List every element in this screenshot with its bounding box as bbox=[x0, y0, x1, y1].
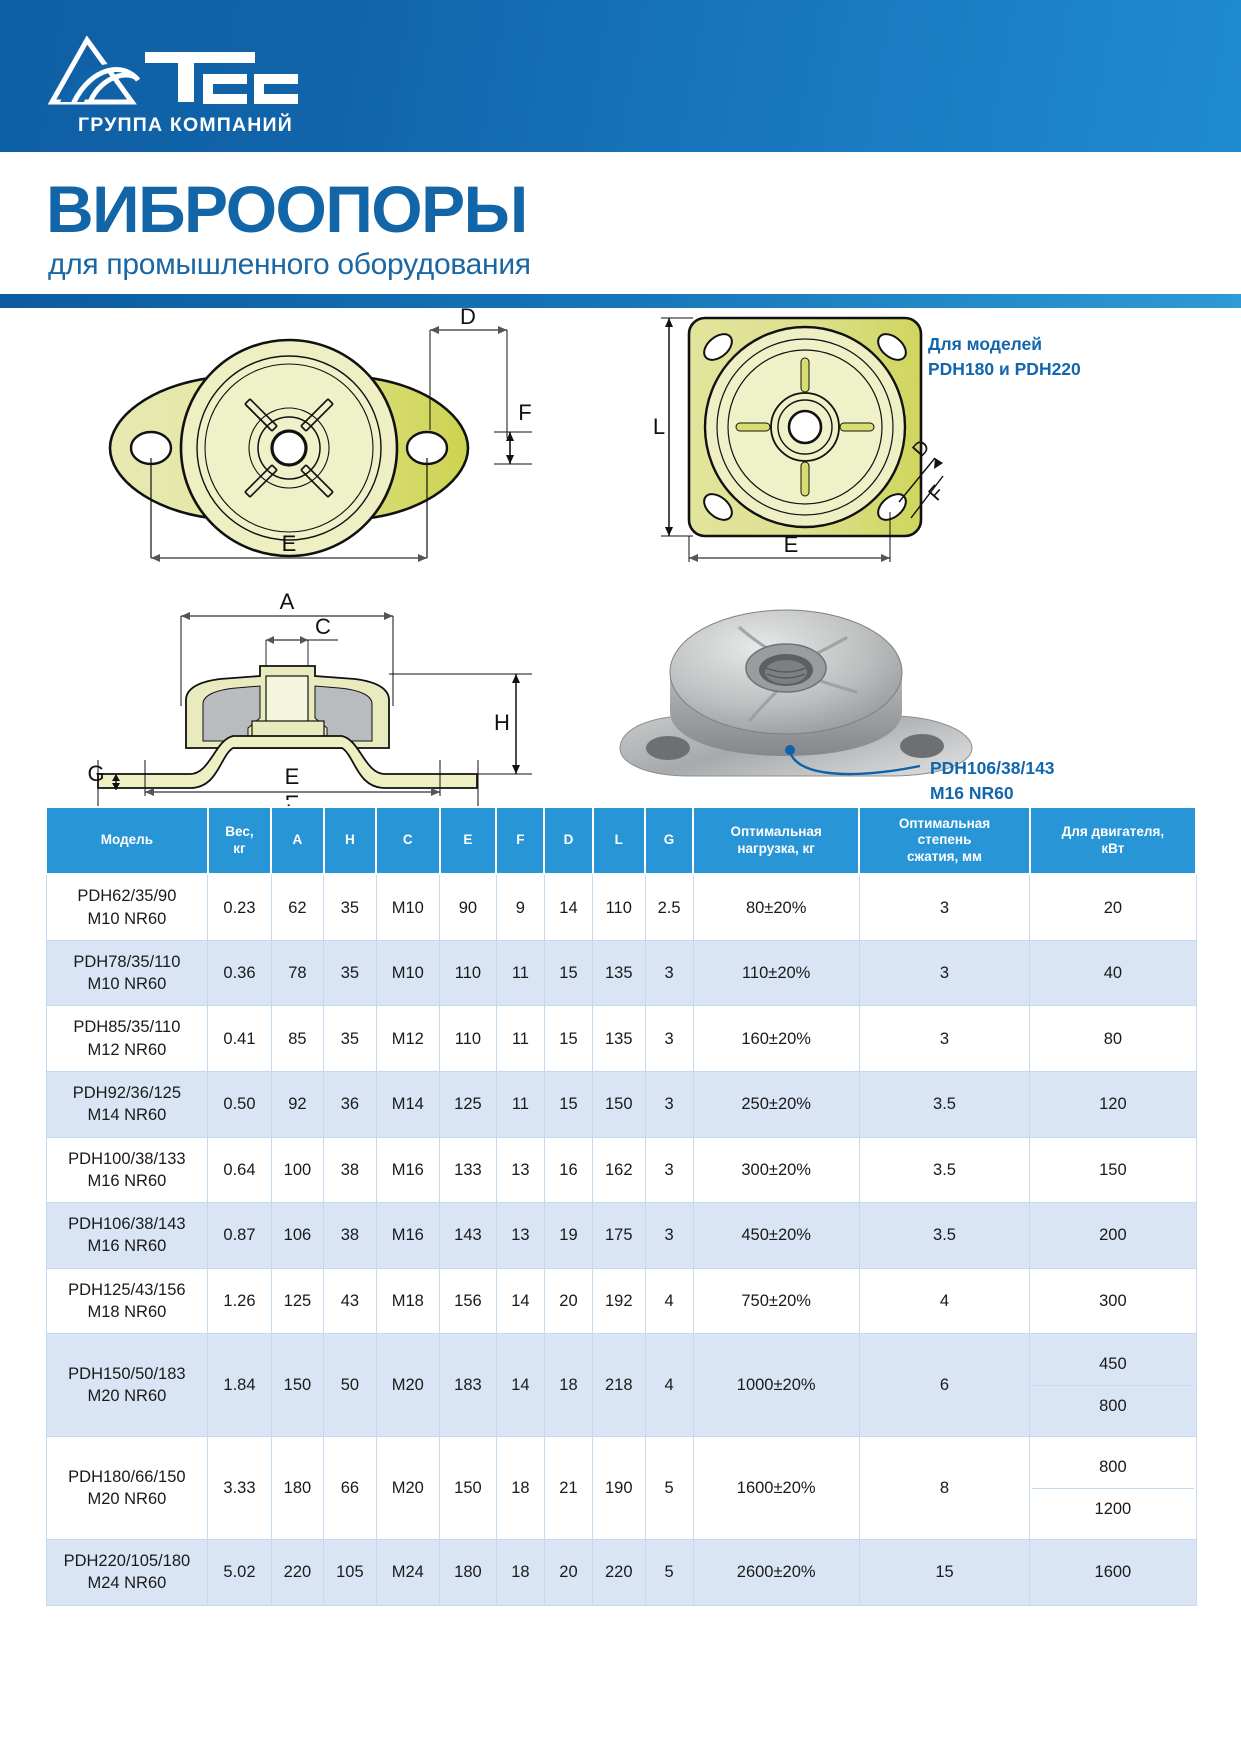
page-subtitle: для промышленного оборудования bbox=[48, 248, 531, 282]
cell-f: 13 bbox=[496, 1137, 544, 1203]
cell-h: 43 bbox=[324, 1268, 376, 1334]
th-d: D bbox=[544, 807, 592, 874]
th-a: A bbox=[271, 807, 323, 874]
cell-motor-power-part: 800 bbox=[1032, 1386, 1193, 1427]
th-h: H bbox=[324, 807, 376, 874]
cell-l: 135 bbox=[593, 940, 645, 1006]
cell-g: 5 bbox=[645, 1540, 693, 1606]
cell-compression: 6 bbox=[859, 1334, 1030, 1437]
cell-g: 3 bbox=[645, 1072, 693, 1138]
cell-model: PDH125/43/156 M18 NR60 bbox=[46, 1268, 208, 1334]
table-row: PDH85/35/110 M12 NR600.418535M1211011151… bbox=[46, 1006, 1196, 1072]
th-model: Модель bbox=[46, 807, 208, 874]
table-row: PDH180/66/150 M20 NR603.3318066M20150182… bbox=[46, 1437, 1196, 1540]
th-g: G bbox=[645, 807, 693, 874]
cell-d: 20 bbox=[544, 1268, 592, 1334]
dim-label-E: E bbox=[282, 531, 297, 556]
cell-weight: 0.23 bbox=[208, 874, 271, 940]
cell-motor-power: 80 bbox=[1030, 1006, 1196, 1072]
cell-e: 125 bbox=[440, 1072, 497, 1138]
cell-motor-power: 150 bbox=[1030, 1137, 1196, 1203]
company-logo: ГРУППА КОМПАНИЙ bbox=[40, 28, 300, 138]
dim-label-A: A bbox=[280, 589, 295, 614]
cell-a: 85 bbox=[271, 1006, 323, 1072]
dim-label-F: F bbox=[518, 400, 531, 425]
th-c: C bbox=[376, 807, 439, 874]
page-title: ВИБРООПОРЫ bbox=[46, 176, 527, 242]
dim-label-F2: F bbox=[924, 482, 945, 506]
cell-g: 5 bbox=[645, 1437, 693, 1540]
cell-l: 175 bbox=[593, 1203, 645, 1269]
cell-c: M18 bbox=[376, 1268, 439, 1334]
cell-model: PDH78/35/110 M10 NR60 bbox=[46, 940, 208, 1006]
cell-g: 4 bbox=[645, 1268, 693, 1334]
cell-c: M14 bbox=[376, 1072, 439, 1138]
cell-compression: 3.5 bbox=[859, 1137, 1030, 1203]
cell-load: 250±20% bbox=[693, 1072, 859, 1138]
cell-a: 62 bbox=[271, 874, 323, 940]
cell-e: 133 bbox=[440, 1137, 497, 1203]
cell-f: 18 bbox=[496, 1437, 544, 1540]
cell-g: 3 bbox=[645, 1137, 693, 1203]
cell-load: 750±20% bbox=[693, 1268, 859, 1334]
cell-load: 450±20% bbox=[693, 1203, 859, 1269]
square-flange-note: Для моделей PDH180 и PDH220 bbox=[928, 332, 1081, 383]
cell-model: PDH100/38/133 M16 NR60 bbox=[46, 1137, 208, 1203]
cell-compression: 15 bbox=[859, 1540, 1030, 1606]
table-row: PDH92/36/125 M14 NR600.509236M1412511151… bbox=[46, 1072, 1196, 1138]
dim-label-L: L bbox=[653, 414, 665, 439]
cell-c: M10 bbox=[376, 874, 439, 940]
cell-e: 143 bbox=[440, 1203, 497, 1269]
cell-weight: 5.02 bbox=[208, 1540, 271, 1606]
dim-label-D: D bbox=[460, 308, 476, 329]
header-divider bbox=[0, 294, 1241, 308]
cell-motor-power: 20 bbox=[1030, 874, 1196, 940]
cell-c: M16 bbox=[376, 1137, 439, 1203]
cell-a: 220 bbox=[271, 1540, 323, 1606]
table-row: PDH106/38/143 M16 NR600.8710638M16143131… bbox=[46, 1203, 1196, 1269]
cell-d: 19 bbox=[544, 1203, 592, 1269]
th-weight: Вес, кг bbox=[208, 807, 271, 874]
cell-load: 1600±20% bbox=[693, 1437, 859, 1540]
cell-e: 156 bbox=[440, 1268, 497, 1334]
cell-weight: 1.84 bbox=[208, 1334, 271, 1437]
cell-motor-power: 120 bbox=[1030, 1072, 1196, 1138]
cell-a: 78 bbox=[271, 940, 323, 1006]
cell-h: 35 bbox=[324, 874, 376, 940]
cell-f: 9 bbox=[496, 874, 544, 940]
cell-g: 4 bbox=[645, 1334, 693, 1437]
cell-compression: 3 bbox=[859, 874, 1030, 940]
tcc-logo-icon bbox=[40, 28, 300, 118]
cell-l: 110 bbox=[593, 874, 645, 940]
specifications-table-wrapper: Модель Вес, кг A H C E F D L G Оптимальн… bbox=[45, 806, 1197, 1606]
cell-h: 38 bbox=[324, 1203, 376, 1269]
cell-model: PDH92/36/125 M14 NR60 bbox=[46, 1072, 208, 1138]
cell-c: M12 bbox=[376, 1006, 439, 1072]
cell-load: 160±20% bbox=[693, 1006, 859, 1072]
cell-d: 15 bbox=[544, 1006, 592, 1072]
cell-load: 80±20% bbox=[693, 874, 859, 940]
cell-motor-power-part: 800 bbox=[1032, 1447, 1193, 1489]
cell-h: 38 bbox=[324, 1137, 376, 1203]
cell-f: 18 bbox=[496, 1540, 544, 1606]
cell-l: 190 bbox=[593, 1437, 645, 1540]
table-body: PDH62/35/90 M10 NR600.236235M10909141102… bbox=[46, 874, 1196, 1605]
dim-label-C: C bbox=[315, 614, 331, 639]
logo-subtitle: ГРУППА КОМПАНИЙ bbox=[78, 114, 293, 137]
cell-c: M10 bbox=[376, 940, 439, 1006]
cell-l: 192 bbox=[593, 1268, 645, 1334]
cell-l: 220 bbox=[593, 1540, 645, 1606]
cell-model: PDH180/66/150 M20 NR60 bbox=[46, 1437, 208, 1540]
cell-model: PDH85/35/110 M12 NR60 bbox=[46, 1006, 208, 1072]
oval-flange-top-view: E D F bbox=[70, 308, 540, 578]
cell-compression: 3.5 bbox=[859, 1203, 1030, 1269]
cell-compression: 3 bbox=[859, 1006, 1030, 1072]
th-motor-power: Для двигателя, кВт bbox=[1030, 807, 1196, 874]
cell-e: 110 bbox=[440, 1006, 497, 1072]
table-row: PDH220/105/180 M24 NR605.02220105M241801… bbox=[46, 1540, 1196, 1606]
cell-d: 20 bbox=[544, 1540, 592, 1606]
cell-load: 300±20% bbox=[693, 1137, 859, 1203]
cell-a: 106 bbox=[271, 1203, 323, 1269]
cell-l: 135 bbox=[593, 1006, 645, 1072]
cell-d: 18 bbox=[544, 1334, 592, 1437]
cell-f: 14 bbox=[496, 1268, 544, 1334]
th-l: L bbox=[593, 807, 645, 874]
cell-a: 180 bbox=[271, 1437, 323, 1540]
drawings-area: E D F bbox=[0, 308, 1241, 800]
product-callout: PDH106/38/143 M16 NR60 bbox=[930, 756, 1055, 807]
th-f: F bbox=[496, 807, 544, 874]
table-row: PDH78/35/110 M10 NR600.367835M1011011151… bbox=[46, 940, 1196, 1006]
cell-a: 125 bbox=[271, 1268, 323, 1334]
cell-load: 1000±20% bbox=[693, 1334, 859, 1437]
table-row: PDH62/35/90 M10 NR600.236235M10909141102… bbox=[46, 874, 1196, 940]
cell-f: 11 bbox=[496, 1072, 544, 1138]
cell-h: 35 bbox=[324, 1006, 376, 1072]
cell-d: 15 bbox=[544, 940, 592, 1006]
title-block: ВИБРООПОРЫ для промышленного оборудовани… bbox=[0, 152, 1241, 294]
cell-motor-power: 300 bbox=[1030, 1268, 1196, 1334]
cell-e: 150 bbox=[440, 1437, 497, 1540]
brand-header-bar: ГРУППА КОМПАНИЙ bbox=[0, 0, 1241, 152]
cell-e: 110 bbox=[440, 940, 497, 1006]
cell-h: 50 bbox=[324, 1334, 376, 1437]
cell-motor-power: 40 bbox=[1030, 940, 1196, 1006]
cell-weight: 0.41 bbox=[208, 1006, 271, 1072]
th-optimal-load: Оптимальная нагрузка, кг bbox=[693, 807, 859, 874]
table-row: PDH125/43/156 M18 NR601.2612543M18156142… bbox=[46, 1268, 1196, 1334]
cell-d: 16 bbox=[544, 1137, 592, 1203]
cell-f: 13 bbox=[496, 1203, 544, 1269]
cell-g: 3 bbox=[645, 1006, 693, 1072]
cell-model: PDH150/50/183 M20 NR60 bbox=[46, 1334, 208, 1437]
cell-weight: 0.64 bbox=[208, 1137, 271, 1203]
cell-f: 14 bbox=[496, 1334, 544, 1437]
cell-h: 105 bbox=[324, 1540, 376, 1606]
cell-compression: 3 bbox=[859, 940, 1030, 1006]
table-row: PDH150/50/183 M20 NR601.8415050M20183141… bbox=[46, 1334, 1196, 1437]
cell-d: 15 bbox=[544, 1072, 592, 1138]
cell-compression: 8 bbox=[859, 1437, 1030, 1540]
cell-motor-power: 8001200 bbox=[1030, 1437, 1196, 1540]
cell-motor-power: 200 bbox=[1030, 1203, 1196, 1269]
cell-l: 218 bbox=[593, 1334, 645, 1437]
cell-motor-power: 1600 bbox=[1030, 1540, 1196, 1606]
th-e: E bbox=[440, 807, 497, 874]
cell-f: 11 bbox=[496, 1006, 544, 1072]
th-compression: Оптимальная степень сжатия, мм bbox=[859, 807, 1030, 874]
cell-motor-power-part: 450 bbox=[1032, 1344, 1193, 1386]
cell-c: M16 bbox=[376, 1203, 439, 1269]
cell-c: M20 bbox=[376, 1437, 439, 1540]
cell-e: 90 bbox=[440, 874, 497, 940]
cell-weight: 0.87 bbox=[208, 1203, 271, 1269]
cell-l: 150 bbox=[593, 1072, 645, 1138]
specifications-table: Модель Вес, кг A H C E F D L G Оптимальн… bbox=[45, 806, 1197, 1606]
cell-model: PDH62/35/90 M10 NR60 bbox=[46, 874, 208, 940]
cell-c: M20 bbox=[376, 1334, 439, 1437]
cell-h: 36 bbox=[324, 1072, 376, 1138]
cell-weight: 1.26 bbox=[208, 1268, 271, 1334]
cell-e: 183 bbox=[440, 1334, 497, 1437]
square-flange-top-view: L E D F bbox=[645, 306, 945, 568]
cell-compression: 3.5 bbox=[859, 1072, 1030, 1138]
cell-weight: 3.33 bbox=[208, 1437, 271, 1540]
cell-d: 14 bbox=[544, 874, 592, 940]
cell-model: PDH220/105/180 M24 NR60 bbox=[46, 1540, 208, 1606]
table-row: PDH100/38/133 M16 NR600.6410038M16133131… bbox=[46, 1137, 1196, 1203]
cell-g: 3 bbox=[645, 1203, 693, 1269]
cell-motor-power-part: 1200 bbox=[1032, 1489, 1193, 1530]
dim-label-E2: E bbox=[784, 532, 799, 557]
cell-weight: 0.50 bbox=[208, 1072, 271, 1138]
cell-d: 21 bbox=[544, 1437, 592, 1540]
dim-label-E4: E bbox=[285, 764, 300, 789]
cell-a: 150 bbox=[271, 1334, 323, 1437]
cell-load: 2600±20% bbox=[693, 1540, 859, 1606]
cell-e: 180 bbox=[440, 1540, 497, 1606]
cell-c: M24 bbox=[376, 1540, 439, 1606]
cell-g: 3 bbox=[645, 940, 693, 1006]
cell-g: 2.5 bbox=[645, 874, 693, 940]
cell-h: 66 bbox=[324, 1437, 376, 1540]
cell-a: 92 bbox=[271, 1072, 323, 1138]
cell-l: 162 bbox=[593, 1137, 645, 1203]
cell-f: 11 bbox=[496, 940, 544, 1006]
cell-compression: 4 bbox=[859, 1268, 1030, 1334]
dim-label-H: H bbox=[494, 710, 510, 735]
cell-h: 35 bbox=[324, 940, 376, 1006]
cell-load: 110±20% bbox=[693, 940, 859, 1006]
cell-weight: 0.36 bbox=[208, 940, 271, 1006]
datasheet-page: ГРУППА КОМПАНИЙ ВИБРООПОРЫ для промышлен… bbox=[0, 0, 1241, 1755]
table-header-row: Модель Вес, кг A H C E F D L G Оптимальн… bbox=[46, 807, 1196, 874]
cell-motor-power: 450800 bbox=[1030, 1334, 1196, 1437]
cell-model: PDH106/38/143 M16 NR60 bbox=[46, 1203, 208, 1269]
cell-a: 100 bbox=[271, 1137, 323, 1203]
